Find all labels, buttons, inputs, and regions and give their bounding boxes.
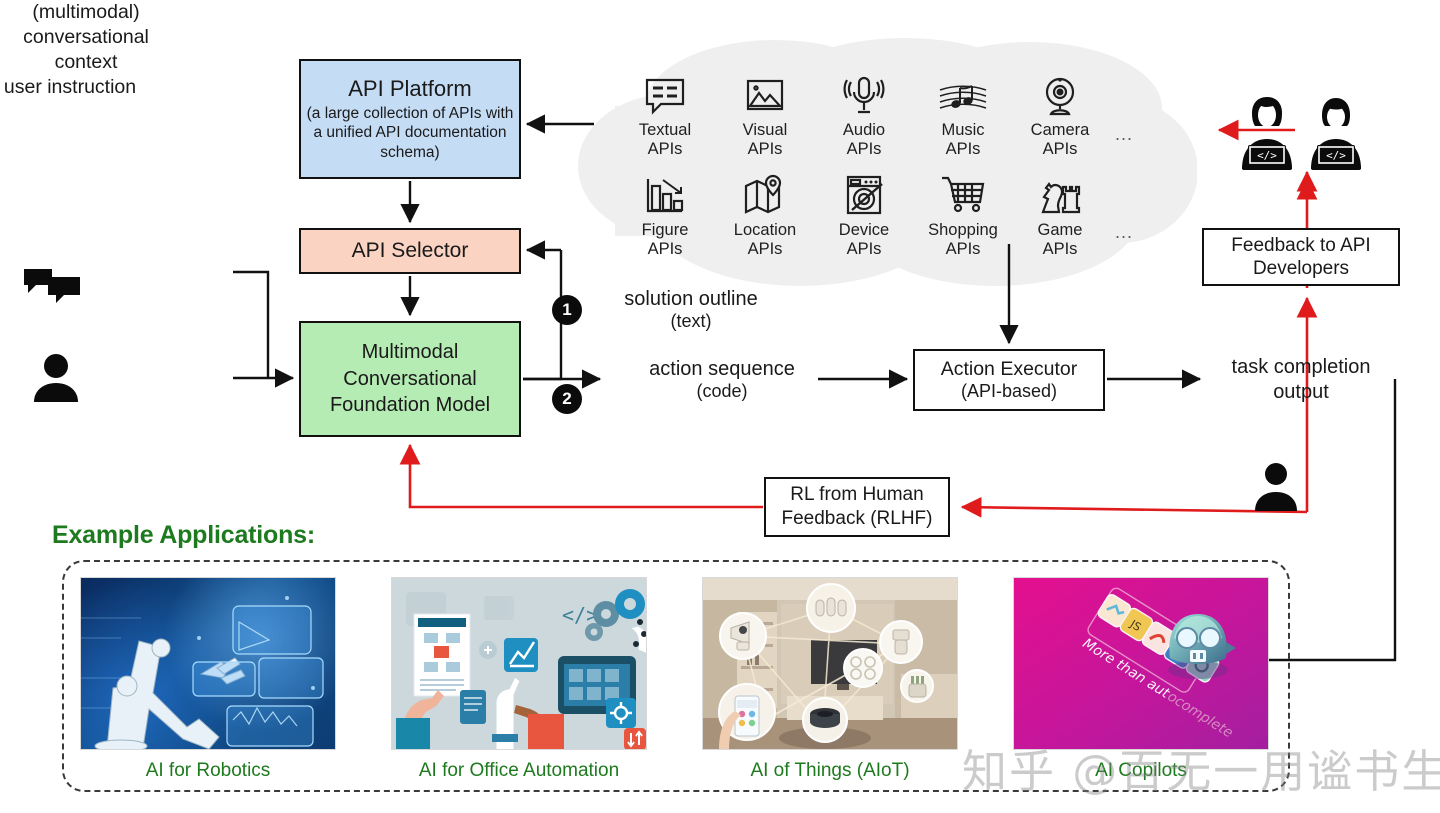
text-chat-icon xyxy=(617,62,713,118)
microphone-icon xyxy=(816,62,912,118)
step-badge-2: 2 xyxy=(552,384,582,414)
chat-bubbles-icon xyxy=(22,267,82,312)
node-feedback-to-api-developers[interactable]: Feedback to API Developers xyxy=(1202,228,1400,286)
action-executor-subtitle: (API-based) xyxy=(961,381,1057,402)
copilot-banner: JS TS More than aut ocomplete xyxy=(1013,577,1269,750)
zhihu-watermark: 知乎 @百无一用谧书生 xyxy=(962,735,1440,800)
shopping-cart-icon xyxy=(915,162,1011,218)
svg-text:</>: </> xyxy=(1257,149,1277,162)
smart-home-photo xyxy=(702,577,958,750)
api-card-camera[interactable]: CameraAPIs xyxy=(1012,62,1108,160)
diagram-canvas: TextualAPIs VisualAPIs AudioAPIs xyxy=(0,0,1440,813)
feedback-title: Feedback to API Developers xyxy=(1204,234,1398,280)
music-notes-icon xyxy=(915,62,1011,118)
api-card-shopping[interactable]: ShoppingAPIs xyxy=(915,162,1011,260)
api-card-location[interactable]: LocationAPIs xyxy=(717,162,813,260)
api-card-device[interactable]: DeviceAPIs xyxy=(816,162,912,260)
example-applications-title: Example Applications: xyxy=(52,521,315,550)
app-card-aiot[interactable]: AI of Things (AIoT) xyxy=(702,577,958,782)
ellipsis-bottom: ... xyxy=(1115,222,1133,243)
node-api-platform[interactable]: API Platform (a large collection of APIs… xyxy=(299,59,521,179)
node-action-executor[interactable]: Action Executor (API-based) xyxy=(913,349,1105,411)
chess-pieces-icon xyxy=(1012,162,1108,218)
image-picture-icon xyxy=(717,62,813,118)
api-selector-title: API Selector xyxy=(352,239,469,264)
office-automation-illustration: </> xyxy=(391,577,647,750)
edge-label-solution-outline: solution outline (text) xyxy=(596,287,786,333)
edge-label-task-completion-output: task completion output xyxy=(1208,355,1394,405)
robot-arm-photo xyxy=(80,577,336,750)
app-card-robotics[interactable]: AI for Robotics xyxy=(80,577,336,782)
rlhf-title: RL from Human Feedback (RLHF) xyxy=(766,483,948,530)
api-cloud: TextualAPIs VisualAPIs AudioAPIs xyxy=(575,36,1197,288)
app-caption: AI for Office Automation xyxy=(391,760,647,782)
api-platform-subtitle: (a large collection of APIs with a unifi… xyxy=(301,104,519,163)
api-card-textual[interactable]: TextualAPIs xyxy=(617,62,713,160)
foundation-model-title: Multimodal Conversational Foundation Mod… xyxy=(301,339,519,418)
svg-text:</>: </> xyxy=(1326,149,1346,162)
node-api-selector[interactable]: API Selector xyxy=(299,228,521,274)
washing-machine-icon xyxy=(816,162,912,218)
map-pin-icon xyxy=(717,162,813,218)
node-foundation-model[interactable]: Multimodal Conversational Foundation Mod… xyxy=(299,321,521,437)
api-card-music[interactable]: MusicAPIs xyxy=(915,62,1011,160)
app-caption: AI of Things (AIoT) xyxy=(702,760,958,782)
input-label-user-instruction: user instruction xyxy=(0,75,140,100)
app-card-office-automation[interactable]: </> AI for Office Automation xyxy=(391,577,647,782)
bar-chart-arrow-icon xyxy=(617,162,713,218)
app-caption: AI for Robotics xyxy=(80,760,336,782)
api-platform-title: API Platform xyxy=(348,76,471,102)
api-card-game[interactable]: GameAPIs xyxy=(1012,162,1108,260)
user-person-icon xyxy=(30,352,82,407)
api-card-figure[interactable]: FigureAPIs xyxy=(617,162,713,260)
ellipsis-top: ... xyxy=(1115,124,1133,145)
input-label-conversational-context: (multimodal) conversational context xyxy=(0,0,172,75)
webcam-icon xyxy=(1012,62,1108,118)
node-rlhf[interactable]: RL from Human Feedback (RLHF) xyxy=(764,477,950,537)
api-card-audio[interactable]: AudioAPIs xyxy=(816,62,912,160)
developer-female-laptop-icon: </> xyxy=(1234,95,1300,176)
developer-male-laptop-icon: </> xyxy=(1303,95,1369,176)
edge-label-action-sequence: action sequence (code) xyxy=(628,357,816,403)
end-user-person-icon xyxy=(1252,461,1300,516)
action-executor-title: Action Executor xyxy=(941,358,1078,381)
step-badge-1: 1 xyxy=(552,295,582,325)
api-card-visual[interactable]: VisualAPIs xyxy=(717,62,813,160)
